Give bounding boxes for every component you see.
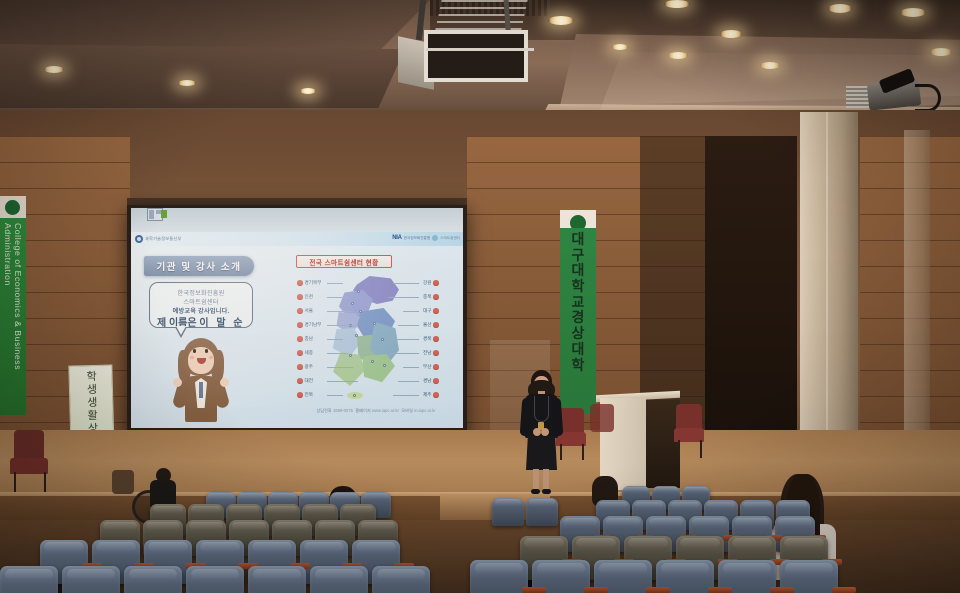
map-label-dot — [433, 350, 439, 356]
map-leader-line — [327, 339, 343, 340]
auditorium-seat[interactable] — [310, 566, 368, 593]
seat-headrest — [332, 493, 357, 499]
seat-headrest — [318, 522, 352, 530]
seat-headrest — [735, 518, 769, 526]
seat-headrest — [356, 542, 396, 552]
map-label-right: 경남 — [423, 378, 439, 384]
cartoon-cheek-left — [190, 356, 194, 359]
seat-headrest — [649, 518, 683, 526]
seat-headrest — [680, 538, 720, 548]
seat-headrest — [495, 499, 522, 505]
ceiling-panel-left — [0, 0, 430, 52]
chair-leg — [44, 472, 46, 492]
downlight — [930, 48, 952, 56]
downlight — [720, 30, 742, 38]
map-center-marker — [383, 364, 386, 367]
podium-shadow — [644, 400, 680, 488]
presenter-leg-right — [543, 469, 549, 491]
auditorium-seat[interactable] — [372, 566, 430, 593]
seat-headrest — [361, 522, 395, 530]
wall-recess-dark — [705, 136, 797, 466]
map-title-badge: 전국 스마트쉼센터 현황 — [296, 255, 392, 268]
banner-char: 대 — [572, 263, 585, 278]
structural-pillar — [800, 112, 858, 468]
map-label-left: 세종 — [297, 350, 313, 356]
banner-college-english-text: College of Economics & Business Administ… — [3, 223, 23, 411]
seat-headrest — [563, 518, 597, 526]
nia-logo-subtext: 한국정보화진흥원 — [404, 236, 430, 241]
seat-headrest — [146, 522, 180, 530]
seat-armrest — [770, 587, 794, 593]
map-label-text: 부산 — [423, 364, 431, 370]
presenter — [519, 370, 563, 496]
map-leader-line — [393, 283, 419, 284]
map-label-text: 서울 — [305, 308, 313, 314]
map-leader-line — [327, 311, 353, 312]
nia-logo: NIA 한국정보화진흥원 스마트쉼센터 — [392, 235, 460, 241]
map-footer-contact: 상담전화 1599-0075 홈페이지 www.iapc.or.kr 모바일 m… — [294, 408, 458, 414]
map-label-dot — [433, 280, 439, 286]
map-leader-line — [398, 381, 419, 382]
seat-headrest — [377, 569, 426, 580]
downlight — [44, 66, 64, 73]
seat-headrest — [475, 563, 524, 574]
map-center-marker — [349, 354, 352, 357]
map-leader-line — [327, 325, 358, 326]
banner-char: 경 — [572, 310, 585, 325]
government-logo-text: 과학기술정보통신부 — [145, 236, 181, 242]
map-leader-line — [327, 297, 348, 298]
cartoon-instructor-illustration — [171, 338, 231, 422]
footer-site: www.iapc.or.kr — [372, 408, 399, 413]
map-label-dot — [433, 336, 439, 342]
downlight — [668, 52, 688, 59]
seat-headrest — [599, 563, 648, 574]
seat-armrest — [584, 587, 608, 593]
map-center-marker — [373, 322, 376, 325]
map-label-left: 서울 — [297, 308, 313, 314]
presenter-lanyard — [534, 396, 549, 422]
map-label-text: 충남 — [305, 336, 313, 342]
structural-pillar-far — [904, 130, 930, 460]
map-label-text: 광주 — [305, 364, 313, 370]
seat-headrest — [624, 487, 648, 492]
auditorium-seat[interactable] — [526, 498, 558, 526]
government-logo: 과학기술정보통신부 — [135, 235, 181, 243]
seat-headrest — [315, 569, 364, 580]
banner-char: 대 — [572, 232, 585, 247]
seat-headrest — [5, 569, 54, 580]
seat-headrest — [96, 542, 136, 552]
map-label-dot — [433, 308, 439, 314]
projector-cage — [424, 30, 528, 82]
map-label-right: 강원 — [423, 280, 439, 286]
map-leader-line — [327, 283, 343, 284]
chair-leg — [678, 440, 680, 458]
slide-title: 기관 및 강사 소개 — [156, 259, 241, 273]
slide-title-ribbon: 기관 및 강사 소개 — [144, 256, 254, 276]
banner-university-korean-text: 대구대학교경상대학 — [560, 228, 596, 414]
map-leader-line — [398, 325, 419, 326]
map-center-marker — [351, 302, 354, 305]
map-title-text: 전국 스마트쉼센터 현황 — [309, 257, 378, 267]
map-label-right: 제주 — [423, 392, 439, 398]
seat-headrest — [153, 506, 183, 513]
map-label-text: 인천 — [305, 294, 313, 300]
map-label-text: 충북 — [423, 294, 431, 300]
map-label-text: 경기북부 — [305, 280, 322, 286]
downlight — [178, 80, 196, 86]
map-leader-line — [403, 311, 419, 312]
map-label-right: 울산 — [423, 322, 439, 328]
map-center-marker — [359, 310, 362, 313]
seat-headrest — [189, 522, 223, 530]
chair-leg — [700, 440, 702, 458]
map-leader-line — [393, 339, 419, 340]
speech-bubble: 한국정보화진흥원 스마트쉼센터 예방교육 강사입니다. 제 이름은 이 말 순 — [149, 282, 253, 328]
map-label-right: 대구 — [423, 308, 439, 314]
nia-emblem-icon — [432, 235, 438, 241]
banner-char: 학 — [572, 358, 585, 373]
seat-headrest — [599, 502, 628, 509]
seat-headrest — [743, 502, 772, 509]
footer-mobile-label: 모바일 — [401, 408, 413, 413]
banner-char: 교 — [572, 295, 585, 310]
map-label-dot — [297, 308, 303, 314]
seat-headrest — [529, 499, 556, 505]
map-leader-line — [327, 381, 358, 382]
map-label-text: 대구 — [423, 308, 431, 314]
downlight — [760, 62, 780, 69]
seat-headrest — [784, 538, 824, 548]
footer-site-label: 홈페이지 — [355, 408, 370, 413]
bubble-instructor-name: 이 말 순 — [199, 318, 245, 329]
seat-armrest — [708, 587, 732, 593]
footer-mobile: m.iapc.or.kr — [414, 408, 436, 413]
seat-headrest — [229, 506, 259, 513]
seat-headrest — [44, 542, 84, 552]
seat-headrest — [232, 522, 266, 530]
auditorium-seat[interactable] — [492, 498, 524, 526]
seat-headrest — [606, 518, 640, 526]
seat-headrest — [191, 569, 240, 580]
seat-headrest — [129, 569, 178, 580]
seat-headrest — [628, 538, 668, 548]
map-leader-line — [393, 395, 419, 396]
map-label-text: 강원 — [423, 280, 431, 286]
cartoon-hand-left — [173, 378, 182, 387]
map-label-dot — [297, 322, 303, 328]
map-label-dot — [297, 392, 303, 398]
auditorium-seat[interactable] — [62, 566, 120, 593]
map-label-right: 전남 — [423, 350, 439, 356]
map-center-marker — [381, 338, 384, 341]
map-label-text: 경기남부 — [305, 322, 322, 328]
map-label-text: 울산 — [423, 322, 431, 328]
seat-armrest — [522, 587, 546, 593]
seat-headrest — [253, 569, 302, 580]
footer-phone-label: 상담전화 — [316, 408, 331, 413]
auditorium-seat[interactable] — [248, 566, 306, 593]
seat-headrest — [732, 538, 772, 548]
banner-char: 생 — [87, 385, 97, 396]
map-label-dot — [297, 364, 303, 370]
seat-headrest — [305, 506, 335, 513]
presenter-hand-left — [533, 428, 541, 436]
bubble-line-2: 스마트쉼센터 — [150, 297, 252, 306]
projector-cable — [915, 84, 941, 112]
map-center-marker — [353, 394, 356, 397]
map-label-left: 충남 — [297, 336, 313, 342]
downlight — [664, 0, 690, 8]
nia-logo-subtext2: 스마트쉼센터 — [440, 236, 460, 241]
map-label-text: 대전 — [305, 378, 313, 384]
seat-headrest — [537, 563, 586, 574]
footer-phone: 1599-0075 — [333, 408, 353, 413]
map-label-dot — [297, 294, 303, 300]
banner-char: 학 — [572, 279, 585, 294]
map-label-right: 경북 — [423, 336, 439, 342]
map-leader-line — [388, 297, 419, 298]
map-label-dot — [433, 364, 439, 370]
map-label-dot — [433, 378, 439, 384]
seat-headrest — [785, 563, 834, 574]
seat-headrest — [778, 518, 812, 526]
auditorium-photo: 과학기술정보통신부 NIA 한국정보화진흥원 스마트쉼센터 기관 및 강사 소개… — [0, 0, 960, 593]
cartoon-cheek-right — [209, 356, 213, 359]
map-label-left: 광주 — [297, 364, 313, 370]
map-leader-line — [403, 367, 419, 368]
map-label-left: 전북 — [297, 392, 313, 398]
stage-chair — [590, 404, 614, 432]
seat-headrest — [267, 506, 297, 513]
map-leader-line — [327, 367, 353, 368]
seat-armrest — [646, 587, 670, 593]
seat-headrest — [148, 542, 188, 552]
map-label-dot — [433, 322, 439, 328]
banner-char: 활 — [87, 411, 97, 422]
banner-university-korean: 대구대학교경상대학 — [560, 228, 596, 414]
map-label-left: 대전 — [297, 378, 313, 384]
seat-headrest — [67, 569, 116, 580]
bubble-line-1: 한국정보화진흥원 — [150, 288, 252, 297]
presenter-shoe-left — [531, 489, 540, 494]
presenter-hand-right — [541, 428, 549, 436]
desktop-app-icon[interactable] — [161, 210, 167, 218]
map-center-marker — [371, 360, 374, 363]
screen-blank-area — [131, 208, 463, 232]
seat-headrest — [707, 502, 736, 509]
chair-leg — [582, 444, 584, 460]
banner-char: 대 — [572, 342, 585, 357]
nia-logo-text: NIA — [392, 235, 401, 241]
map-leader-line — [388, 353, 419, 354]
seat-headrest — [275, 522, 309, 530]
university-emblem-icon — [5, 200, 20, 215]
banner-college-english: College of Economics & Business Administ… — [0, 215, 26, 415]
map-label-dot — [433, 294, 439, 300]
cartoon-eye-left — [193, 349, 196, 353]
seat-headrest — [363, 493, 388, 499]
banner-char: 상 — [572, 326, 585, 341]
map-label-text: 경북 — [423, 336, 431, 342]
ceiling-slab-left — [0, 44, 440, 108]
government-emblem-icon — [135, 235, 143, 243]
map-label-left: 인천 — [297, 294, 313, 300]
map-label-dot — [297, 350, 303, 356]
cartoon-tie — [199, 382, 203, 398]
downlight — [300, 88, 316, 94]
seat-headrest — [654, 487, 678, 492]
auditorium-seat[interactable] — [0, 566, 58, 593]
map-label-left: 경기남부 — [297, 322, 321, 328]
map-leader-line — [327, 395, 343, 396]
seat-headrest — [301, 493, 326, 499]
map-center-marker — [355, 334, 358, 337]
map-label-text: 전북 — [305, 392, 313, 398]
seat-headrest — [671, 502, 700, 509]
seat-headrest — [208, 493, 233, 499]
map-leader-line — [327, 353, 348, 354]
banner-char: 구 — [572, 248, 585, 263]
map-label-text: 경남 — [423, 378, 431, 384]
seat-headrest — [661, 563, 710, 574]
pillar-edge — [826, 112, 828, 468]
map-label-text: 전남 — [423, 350, 431, 356]
presenter-skirt — [526, 436, 557, 470]
seat-headrest — [524, 538, 564, 548]
auditorium-seat[interactable] — [186, 566, 244, 593]
bubble-name-row: 제 이름은 이 말 순 — [150, 314, 252, 329]
seat-headrest — [200, 542, 240, 552]
map-label-text: 제주 — [423, 392, 431, 398]
presentation-slide: 과학기술정보통신부 NIA 한국정보화진흥원 스마트쉼센터 기관 및 강사 소개… — [131, 232, 463, 428]
seat-headrest — [684, 487, 708, 492]
seat-headrest — [304, 542, 344, 552]
downlight — [900, 8, 926, 17]
auditorium-seat[interactable] — [470, 560, 528, 593]
seat-headrest — [239, 493, 264, 499]
chair-leg — [14, 472, 16, 492]
map-label-right: 충북 — [423, 294, 439, 300]
map-center-marker — [357, 290, 360, 293]
seat-headrest — [779, 502, 808, 509]
downlight — [828, 4, 852, 13]
map-label-dot — [297, 378, 303, 384]
banner-char: 생 — [87, 398, 97, 409]
map-label-dot — [297, 336, 303, 342]
auditorium-seat[interactable] — [124, 566, 182, 593]
downlight — [612, 44, 628, 50]
banner-char: 학 — [86, 372, 96, 383]
cartoon-eye-right — [205, 349, 208, 353]
map-label-dot — [297, 280, 303, 286]
seat-headrest — [723, 563, 772, 574]
seat-headrest — [270, 493, 295, 499]
cartoon-hand-right — [220, 378, 229, 387]
map-label-text: 세종 — [305, 350, 313, 356]
speech-bubble-tail-inner — [176, 326, 186, 335]
seat-headrest — [103, 522, 137, 530]
seat-headrest — [635, 502, 664, 509]
presenter-arm-right — [552, 398, 564, 437]
seat-armrest — [832, 587, 856, 593]
presenter-leg-left — [533, 469, 539, 491]
seat-headrest — [576, 538, 616, 548]
seat-headrest — [191, 506, 221, 513]
map-label-dot — [433, 392, 439, 398]
downlight — [548, 16, 574, 25]
seat-headrest — [692, 518, 726, 526]
presenter-shoe-right — [542, 489, 551, 494]
map-label-left: 경기북부 — [297, 280, 321, 286]
seat-headrest — [252, 542, 292, 552]
seat-headrest — [343, 506, 373, 513]
map-label-right: 부산 — [423, 364, 439, 370]
